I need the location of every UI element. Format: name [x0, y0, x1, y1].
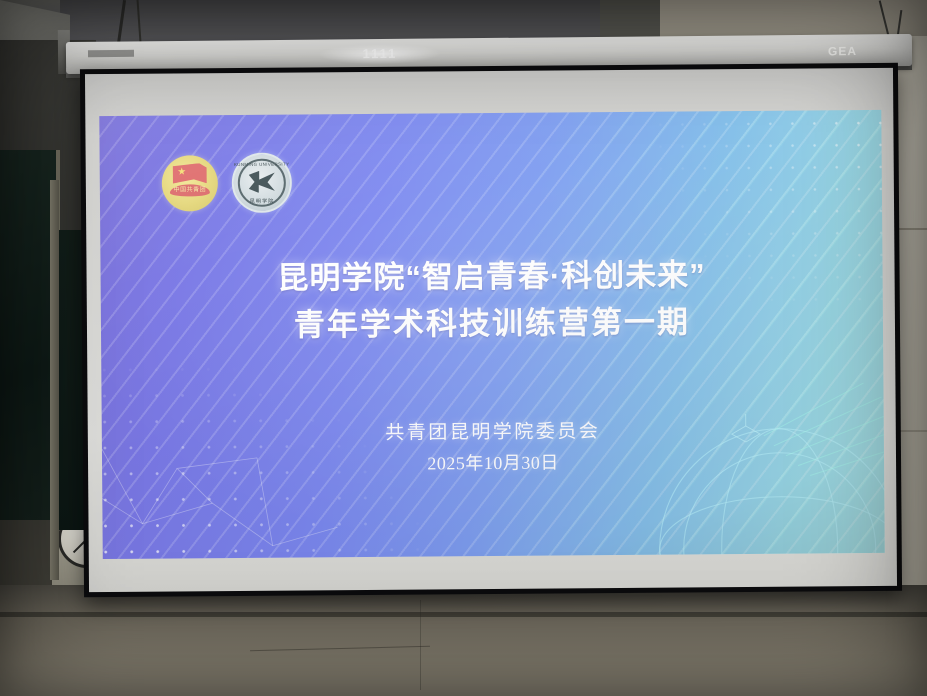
slide-title: 昆明学院“智启青春·科创未来” 青年学术科技训练营第一期	[100, 250, 883, 350]
projected-slide: 中国共青团 KUNMING UNIVERSITY 昆明学院 昆明学院“智启青春·…	[99, 110, 884, 559]
slide-date: 2025年10月30日	[102, 445, 884, 481]
slide-title-line2: 青年学术科技训练营第一期	[101, 297, 883, 350]
kunming-university-seal-icon: KUNMING UNIVERSITY 昆明学院	[232, 153, 292, 213]
ribbon-shape: 中国共青团	[170, 184, 210, 196]
roller-light-spill-text: 1111	[332, 45, 428, 64]
seal-chinese-text: 昆明学院	[234, 198, 290, 205]
flag-shape	[173, 163, 207, 183]
screen-surface: 中国共青团 KUNMING UNIVERSITY 昆明学院 昆明学院“智启青春·…	[85, 68, 897, 592]
classroom-scene: 1111 GEA	[0, 0, 927, 696]
window-frame	[50, 180, 59, 580]
emblem-ribbon-text: 中国共青团	[170, 185, 210, 195]
roller-sticker	[88, 50, 134, 57]
seal-english-text: KUNMING UNIVERSITY	[234, 162, 290, 167]
slide-subtitle: 共青团昆明学院委员会 2025年10月30日	[102, 415, 884, 481]
slide-title-line1: 昆明学院“智启青春·科创未来”	[100, 250, 882, 303]
roller-brand-text: GEA	[828, 44, 898, 63]
wall-shadow-line	[0, 612, 927, 617]
lower-wall	[0, 585, 927, 696]
wall-crack-vertical	[420, 600, 421, 690]
slide-logos: 中国共青团 KUNMING UNIVERSITY 昆明学院	[162, 153, 292, 214]
communist-youth-league-emblem-icon: 中国共青团	[162, 155, 218, 211]
projection-screen: 中国共青团 KUNMING UNIVERSITY 昆明学院 昆明学院“智启青春·…	[80, 63, 902, 597]
